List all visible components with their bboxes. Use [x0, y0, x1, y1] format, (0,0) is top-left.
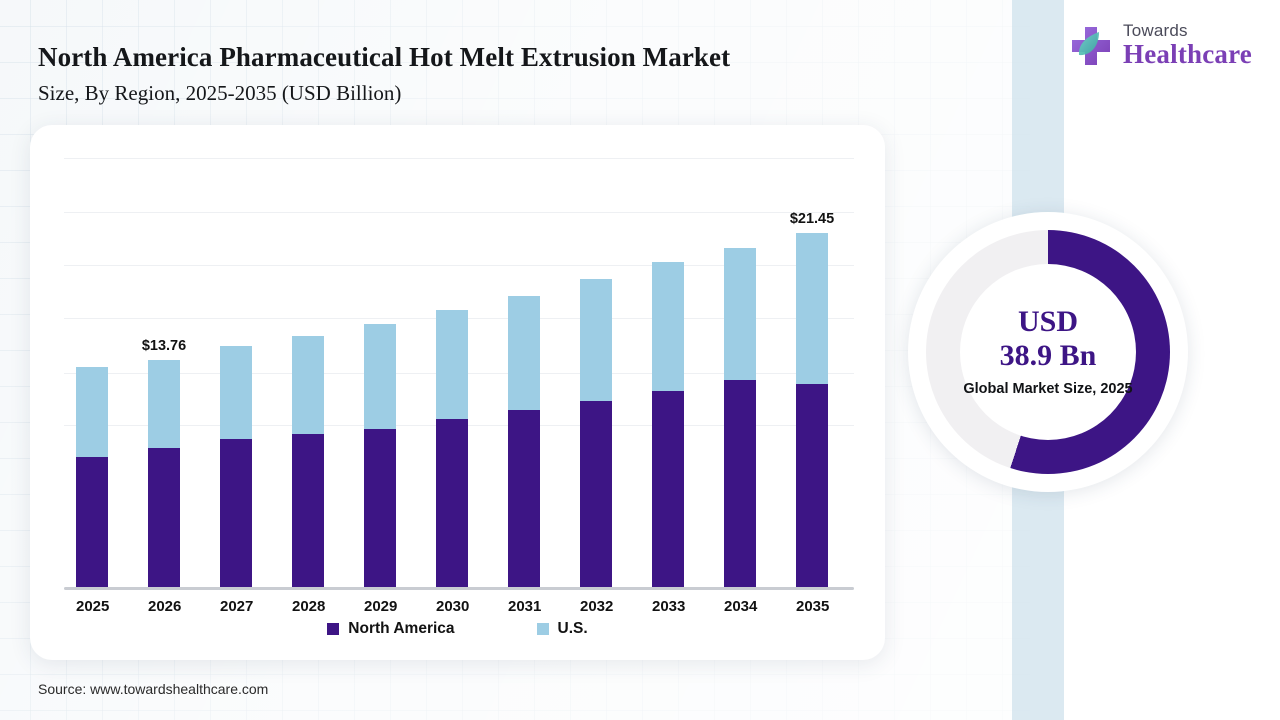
bar-group[interactable]	[220, 346, 252, 587]
donut-currency: USD	[1018, 305, 1078, 339]
donut-value: 38.9 Bn	[1000, 339, 1097, 373]
brand-logo: Towards Healthcare	[1068, 22, 1252, 70]
x-axis-tick-label: 2034	[724, 598, 756, 615]
bar-group[interactable]	[292, 336, 324, 587]
gridline	[64, 212, 854, 213]
gridline	[64, 158, 854, 159]
bar-segment-us[interactable]	[724, 248, 756, 380]
bar-group[interactable]	[652, 262, 684, 587]
legend-item[interactable]: U.S.	[537, 620, 588, 638]
donut-caption: Global Market Size, 2025	[963, 380, 1132, 399]
page-subtitle: Size, By Region, 2025-2035 (USD Billion)	[38, 78, 878, 108]
bar-group[interactable]: $13.76	[148, 360, 180, 587]
brand-name-bottom: Healthcare	[1123, 41, 1252, 68]
source-text: Source: www.towardshealthcare.com	[38, 681, 268, 697]
x-axis-tick-label: 2025	[76, 598, 108, 615]
legend-swatch	[327, 623, 339, 635]
x-axis-line	[64, 587, 854, 590]
bar-segment-us[interactable]	[220, 346, 252, 438]
chart-card: $13.76$21.45 202520262027202820292030203…	[30, 125, 885, 660]
bar-value-label: $13.76	[142, 338, 186, 354]
x-axis-tick-label: 2031	[508, 598, 540, 615]
bar-segment-north-america[interactable]	[724, 380, 756, 587]
bar-segment-north-america[interactable]	[796, 384, 828, 587]
header: North America Pharmaceutical Hot Melt Ex…	[38, 40, 878, 108]
cross-leaf-icon	[1068, 23, 1114, 69]
bar-value-label: $21.45	[790, 211, 834, 227]
legend-label: U.S.	[558, 620, 588, 638]
bar-segment-north-america[interactable]	[508, 410, 540, 587]
bar-group[interactable]	[364, 324, 396, 587]
bar-segment-north-america[interactable]	[148, 448, 180, 587]
bar-segment-north-america[interactable]	[364, 429, 396, 587]
bar-segment-north-america[interactable]	[436, 419, 468, 587]
chart-legend: North AmericaU.S.	[30, 620, 885, 638]
legend-swatch	[537, 623, 549, 635]
bar-group[interactable]	[76, 367, 108, 587]
x-axis-tick-label: 2032	[580, 598, 612, 615]
bar-segment-us[interactable]	[364, 324, 396, 429]
bar-segment-north-america[interactable]	[652, 391, 684, 587]
bar-segment-us[interactable]	[436, 310, 468, 419]
bar-segment-us[interactable]	[580, 279, 612, 401]
x-axis-tick-label: 2030	[436, 598, 468, 615]
x-axis-tick-label: 2035	[796, 598, 828, 615]
bar-group[interactable]	[436, 310, 468, 587]
global-market-donut: USD 38.9 Bn Global Market Size, 2025	[908, 212, 1188, 492]
bar-segment-north-america[interactable]	[580, 401, 612, 587]
bar-segment-north-america[interactable]	[76, 457, 108, 587]
bar-segment-us[interactable]	[508, 296, 540, 411]
x-axis-tick-label: 2026	[148, 598, 180, 615]
x-axis-tick-label: 2033	[652, 598, 684, 615]
brand-logo-text: Towards Healthcare	[1123, 22, 1252, 70]
bar-segment-north-america[interactable]	[292, 434, 324, 587]
donut-center-label: USD 38.9 Bn Global Market Size, 2025	[960, 264, 1136, 440]
bar-segment-us[interactable]	[796, 233, 828, 384]
bar-segment-us[interactable]	[292, 336, 324, 434]
legend-label: North America	[348, 620, 454, 638]
bar-group[interactable]	[580, 279, 612, 587]
legend-item[interactable]: North America	[327, 620, 454, 638]
bar-segment-us[interactable]	[76, 367, 108, 457]
bar-group[interactable]: $21.45	[796, 233, 828, 587]
brand-name-top: Towards	[1123, 21, 1188, 40]
bar-segment-us[interactable]	[652, 262, 684, 392]
bar-group[interactable]	[724, 248, 756, 587]
bar-group[interactable]	[508, 296, 540, 587]
bar-chart-plot: $13.76$21.45 202520262027202820292030203…	[64, 158, 854, 590]
bar-segment-us[interactable]	[148, 360, 180, 448]
x-axis-tick-label: 2028	[292, 598, 324, 615]
page-title: North America Pharmaceutical Hot Melt Ex…	[38, 40, 878, 74]
x-axis-tick-label: 2029	[364, 598, 396, 615]
x-axis-tick-label: 2027	[220, 598, 252, 615]
bar-segment-north-america[interactable]	[220, 439, 252, 588]
